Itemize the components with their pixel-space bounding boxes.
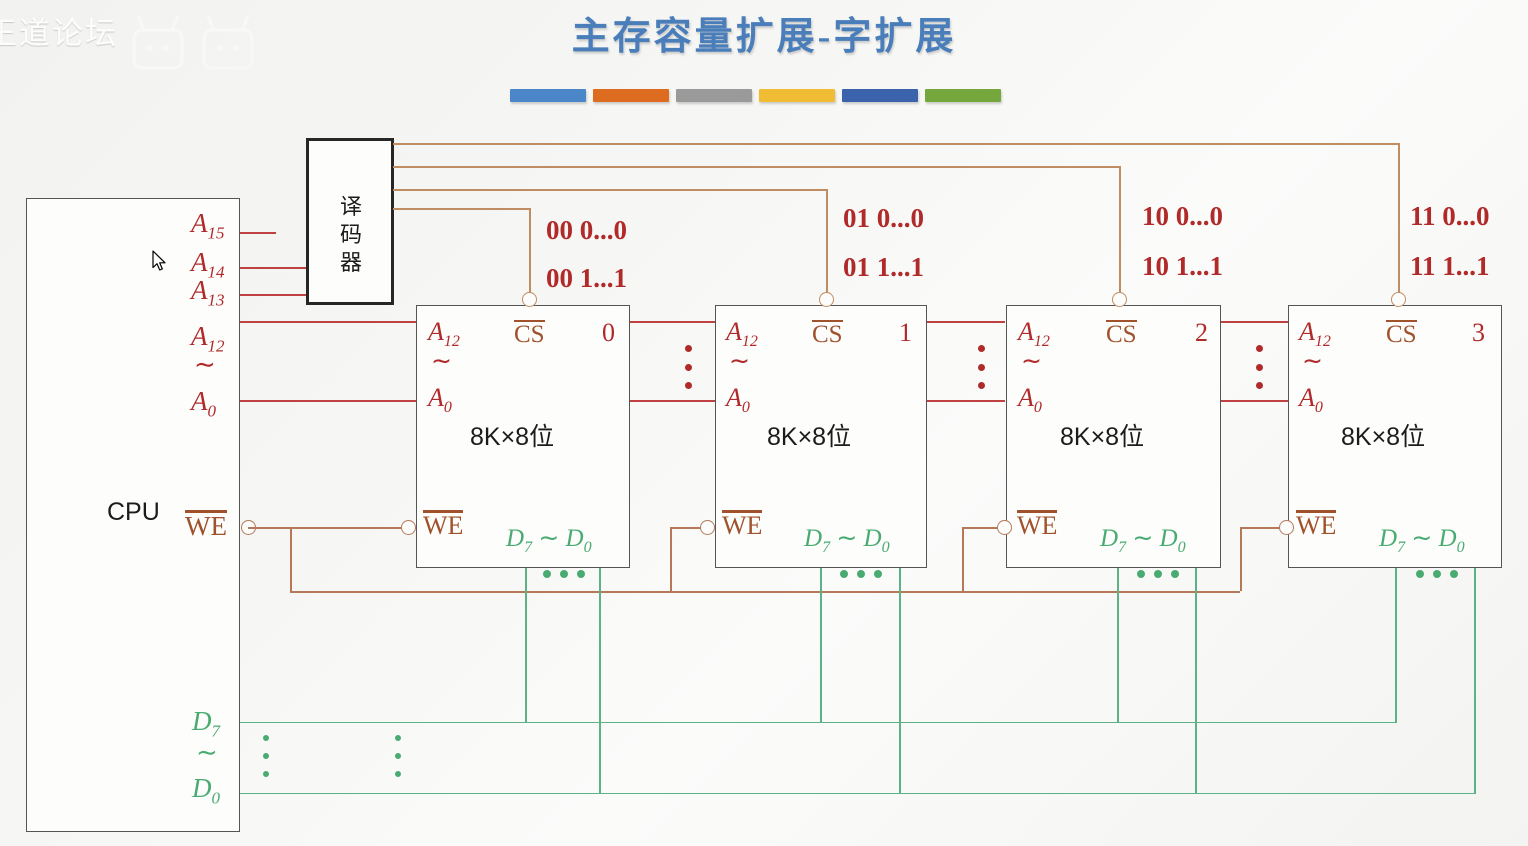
chip-3-capacity: 8K×8位: [1341, 425, 1425, 450]
wire-a12-chip2-chip3: [1221, 321, 1289, 323]
chip-3-pin-a12: A12: [1299, 319, 1331, 350]
wire-decoder-out3-h: [393, 143, 1399, 145]
wire-data-d7-chip0: [525, 568, 527, 723]
cpu-pin-we: WE: [185, 513, 227, 540]
chip-3-index: 3: [1472, 320, 1485, 346]
wire-a0-chip0-chip1: [629, 400, 716, 402]
wire-data-bus-d7: [240, 722, 1397, 723]
chip-2-pin-we: WE: [1017, 513, 1057, 539]
wire-we-bus-horizontal: [290, 591, 1240, 593]
wire-data-d0-chip1: [899, 568, 901, 794]
chip-3-data-dots: [1416, 570, 1458, 578]
chip-2-addr-tilde: ∼: [1021, 349, 1042, 374]
chip-0-pin-we: WE: [423, 513, 463, 539]
chip-3-pin-cs: CS: [1386, 322, 1417, 347]
wire-a13-to-decoder: [240, 294, 306, 296]
wire-a15-stub: [240, 232, 276, 234]
cpu-pin-d7: D7: [192, 708, 220, 739]
wire-a12-chip1-chip2: [925, 321, 1005, 323]
chip-3-addr-bottom: 11 1...1: [1410, 253, 1490, 280]
chip-1-pin-a12: A12: [726, 319, 758, 350]
chip-3-pin-a0: A0: [1299, 385, 1323, 416]
wire-decoder-out2-v: [1119, 166, 1121, 298]
addr-dots-chip2-chip3: [1255, 345, 1263, 389]
chip-1-cs-bubble: [819, 292, 834, 307]
bar-blue: [510, 89, 586, 102]
chip-1-addr-bottom: 01 1...1: [843, 254, 924, 281]
wire-we-drop-cpu: [290, 527, 292, 591]
chip-1-pin-cs: CS: [812, 322, 843, 347]
wire-a0-chip1-chip2: [925, 400, 1005, 402]
wire-a0-chip2-chip3: [1221, 400, 1289, 402]
chip-0-data-dots: [543, 570, 585, 578]
cpu-addr-tilde: ∼: [194, 352, 216, 378]
data-dots-mid: [394, 735, 401, 777]
title-accent-bars: [510, 89, 1005, 102]
chip-2-index: 2: [1195, 320, 1208, 346]
wire-data-bus-d0: [240, 793, 1476, 794]
chip-2-pin-a0: A0: [1018, 385, 1042, 416]
chip-1-index: 1: [899, 320, 912, 346]
chip-3-data-pins: D7 ∼ D0: [1379, 526, 1465, 556]
wire-decoder-out1-h: [393, 189, 827, 191]
chip-0-addr-tilde: ∼: [431, 349, 452, 374]
page-title: 主存容量扩展-字扩展: [0, 18, 1528, 56]
chip-0-addr-bottom: 00 1...1: [546, 265, 627, 292]
wire-data-d0-chip0: [599, 568, 601, 794]
chip-1-pin-a0: A0: [726, 385, 750, 416]
cpu-pin-a0: A0: [191, 388, 216, 419]
wire-decoder-out1-v: [826, 189, 828, 298]
chip-3-addr-tilde: ∼: [1302, 349, 1323, 374]
chip-2-pin-cs: CS: [1106, 322, 1137, 347]
wire-we-riser-chip1: [670, 527, 672, 591]
bar-darkblue: [842, 89, 918, 102]
chip-1-addr-top: 01 0...0: [843, 205, 924, 232]
bar-orange: [593, 89, 669, 102]
cpu-pin-a15: A15: [191, 210, 225, 241]
wire-data-d7-chip2: [1117, 568, 1119, 723]
bar-yellow: [759, 89, 835, 102]
chip-0-addr-top: 00 0...0: [546, 217, 627, 244]
wire-data-d0-chip3: [1474, 568, 1476, 794]
chip-0-pin-cs: CS: [514, 322, 545, 347]
cpu-data-tilde: ∼: [196, 740, 218, 766]
chip-0-index: 0: [602, 320, 615, 346]
wire-decoder-out3-v: [1398, 143, 1400, 298]
wire-we-riser-chip3: [1240, 527, 1242, 591]
cpu-label: CPU: [107, 500, 160, 525]
mouse-cursor: [152, 250, 168, 274]
data-dots-left: [262, 735, 269, 777]
wire-a12-chip0-chip1: [629, 321, 716, 323]
wire-a0-cpu-chip0: [240, 400, 416, 402]
chip-2-we-bubble: [997, 520, 1012, 535]
wire-we-stub-chip3: [1240, 527, 1282, 529]
wire-decoder-out0-v: [529, 208, 531, 298]
chip-0-pin-a0: A0: [428, 385, 452, 416]
wire-data-d7-chip1: [820, 568, 822, 723]
bar-green: [925, 89, 1001, 102]
chip-1-addr-tilde: ∼: [729, 349, 750, 374]
chip-1-we-bubble: [700, 520, 715, 535]
wire-we-cpu-chip0: [248, 527, 415, 529]
slide-canvas: 王道论坛 主存容量扩展-字扩展 CPU A15 A14 A13 A12: [0, 0, 1528, 846]
chip-0-pin-a12: A12: [428, 319, 460, 350]
chip-1-data-pins: D7 ∼ D0: [804, 526, 890, 556]
addr-dots-chip1-chip2: [977, 345, 985, 389]
decoder-label: 译 码 器: [339, 193, 363, 277]
chip-3-we-bubble: [1279, 520, 1294, 535]
chip-0-we-bubble: [401, 520, 416, 535]
wire-decoder-out2-h: [393, 166, 1120, 168]
chip-1-capacity: 8K×8位: [767, 425, 851, 450]
wire-a14-to-decoder: [240, 267, 306, 269]
chip-1-data-dots: [840, 570, 882, 578]
wire-data-d7-chip3: [1395, 568, 1397, 723]
bar-gray: [676, 89, 752, 102]
chip-3-cs-bubble: [1391, 292, 1406, 307]
wire-we-riser-chip2: [962, 527, 964, 591]
chip-0-cs-bubble: [522, 292, 537, 307]
cpu-pin-a13: A13: [191, 277, 225, 308]
chip-1-pin-we: WE: [722, 513, 762, 539]
addr-dots-chip0-chip1: [684, 345, 692, 389]
chip-3-pin-we: WE: [1296, 513, 1336, 539]
chip-3-addr-top: 11 0...0: [1410, 203, 1490, 230]
chip-2-capacity: 8K×8位: [1060, 425, 1144, 450]
chip-2-data-pins: D7 ∼ D0: [1100, 526, 1186, 556]
chip-0-data-pins: D7 ∼ D0: [506, 526, 592, 556]
chip-2-pin-a12: A12: [1018, 319, 1050, 350]
wire-data-d0-chip2: [1195, 568, 1197, 794]
cpu-pin-d0: D0: [192, 775, 220, 806]
chip-2-data-dots: [1137, 570, 1179, 578]
chip-2-addr-bottom: 10 1...1: [1142, 253, 1223, 280]
wire-decoder-out0-h: [393, 208, 530, 210]
wire-a12-cpu-chip0: [240, 321, 416, 323]
chip-0-capacity: 8K×8位: [470, 425, 554, 450]
chip-2-cs-bubble: [1112, 292, 1127, 307]
chip-2-addr-top: 10 0...0: [1142, 203, 1223, 230]
